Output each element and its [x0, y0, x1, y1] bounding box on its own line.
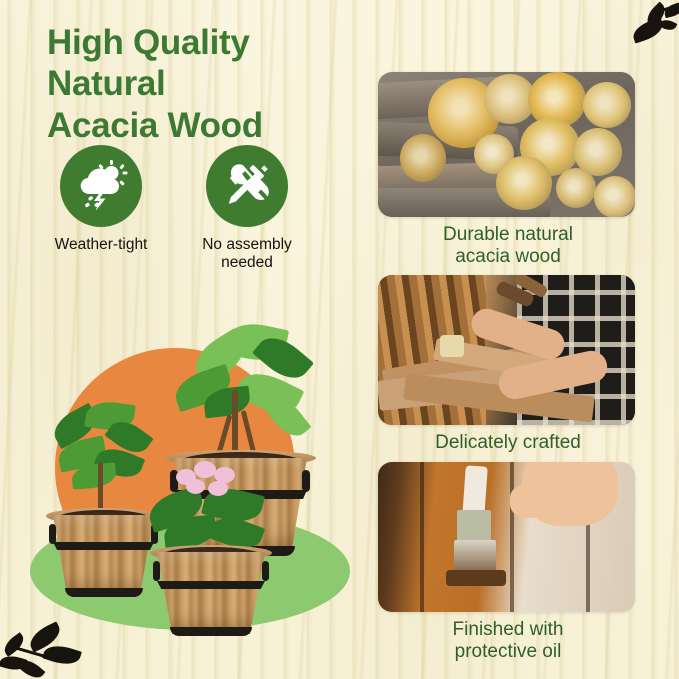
page-title: High Quality Natural Acacia Wood	[47, 22, 377, 146]
caption-line-2: acacia wood	[455, 246, 561, 267]
caption-line-2: protective oil	[455, 641, 562, 662]
product-hero-image	[0, 330, 370, 660]
feature-label-no-assembly: No assembly needed	[186, 236, 308, 273]
title-line-1: High Quality Natural	[47, 23, 250, 103]
card-caption-durable: Durable natural acacia wood	[378, 224, 638, 267]
feature-label-weather-tight: Weather-tight	[40, 236, 162, 254]
caption-line-1: Finished with	[453, 619, 564, 640]
leaf-sprig-bottom-left	[0, 620, 86, 679]
feature-weather-tight: Weather-tight	[40, 145, 162, 273]
title-line-2: Acacia Wood	[47, 105, 377, 146]
product-infographic: High Quality Natural Acacia Wood	[0, 0, 679, 679]
logs-photo-background	[378, 72, 635, 217]
tools-badge-circle	[206, 145, 288, 227]
caption-line-1: Durable natural	[443, 224, 573, 245]
carpenter-photo-background	[378, 275, 635, 425]
brush-ferrule	[457, 510, 491, 542]
feature-no-assembly: No assembly needed	[186, 145, 308, 273]
feature-badges: Weather-tight No assembly	[40, 145, 330, 273]
weather-badge-circle	[60, 145, 142, 227]
card-protective-oil: Finished with protective oil	[378, 462, 638, 662]
brush-photo-background	[378, 462, 635, 612]
planter-medium-african-violet	[152, 545, 270, 645]
feature-label-line-2: needed	[221, 254, 273, 271]
weather-storm-icon	[73, 158, 129, 214]
leaf-sprig-top-right	[620, 2, 679, 52]
card-caption-protective-oil: Finished with protective oil	[378, 619, 638, 662]
caption-line-1: Delicately crafted	[435, 432, 581, 453]
card-delicately-crafted: Delicately crafted	[378, 275, 638, 454]
stacked-acacia-logs-photo	[378, 72, 635, 217]
brush-applying-protective-oil-photo	[378, 462, 635, 612]
planter-small-fiddle-leaf	[48, 508, 158, 608]
card-caption-crafted: Delicately crafted	[378, 432, 638, 454]
feature-label-line-1: No assembly	[202, 236, 292, 253]
feature-cards: Durable natural acacia wood	[378, 72, 638, 670]
carpenter-crafting-wood-photo	[378, 275, 635, 425]
card-durable-acacia-wood: Durable natural acacia wood	[378, 72, 638, 267]
wrench-screwdriver-icon	[221, 160, 273, 212]
